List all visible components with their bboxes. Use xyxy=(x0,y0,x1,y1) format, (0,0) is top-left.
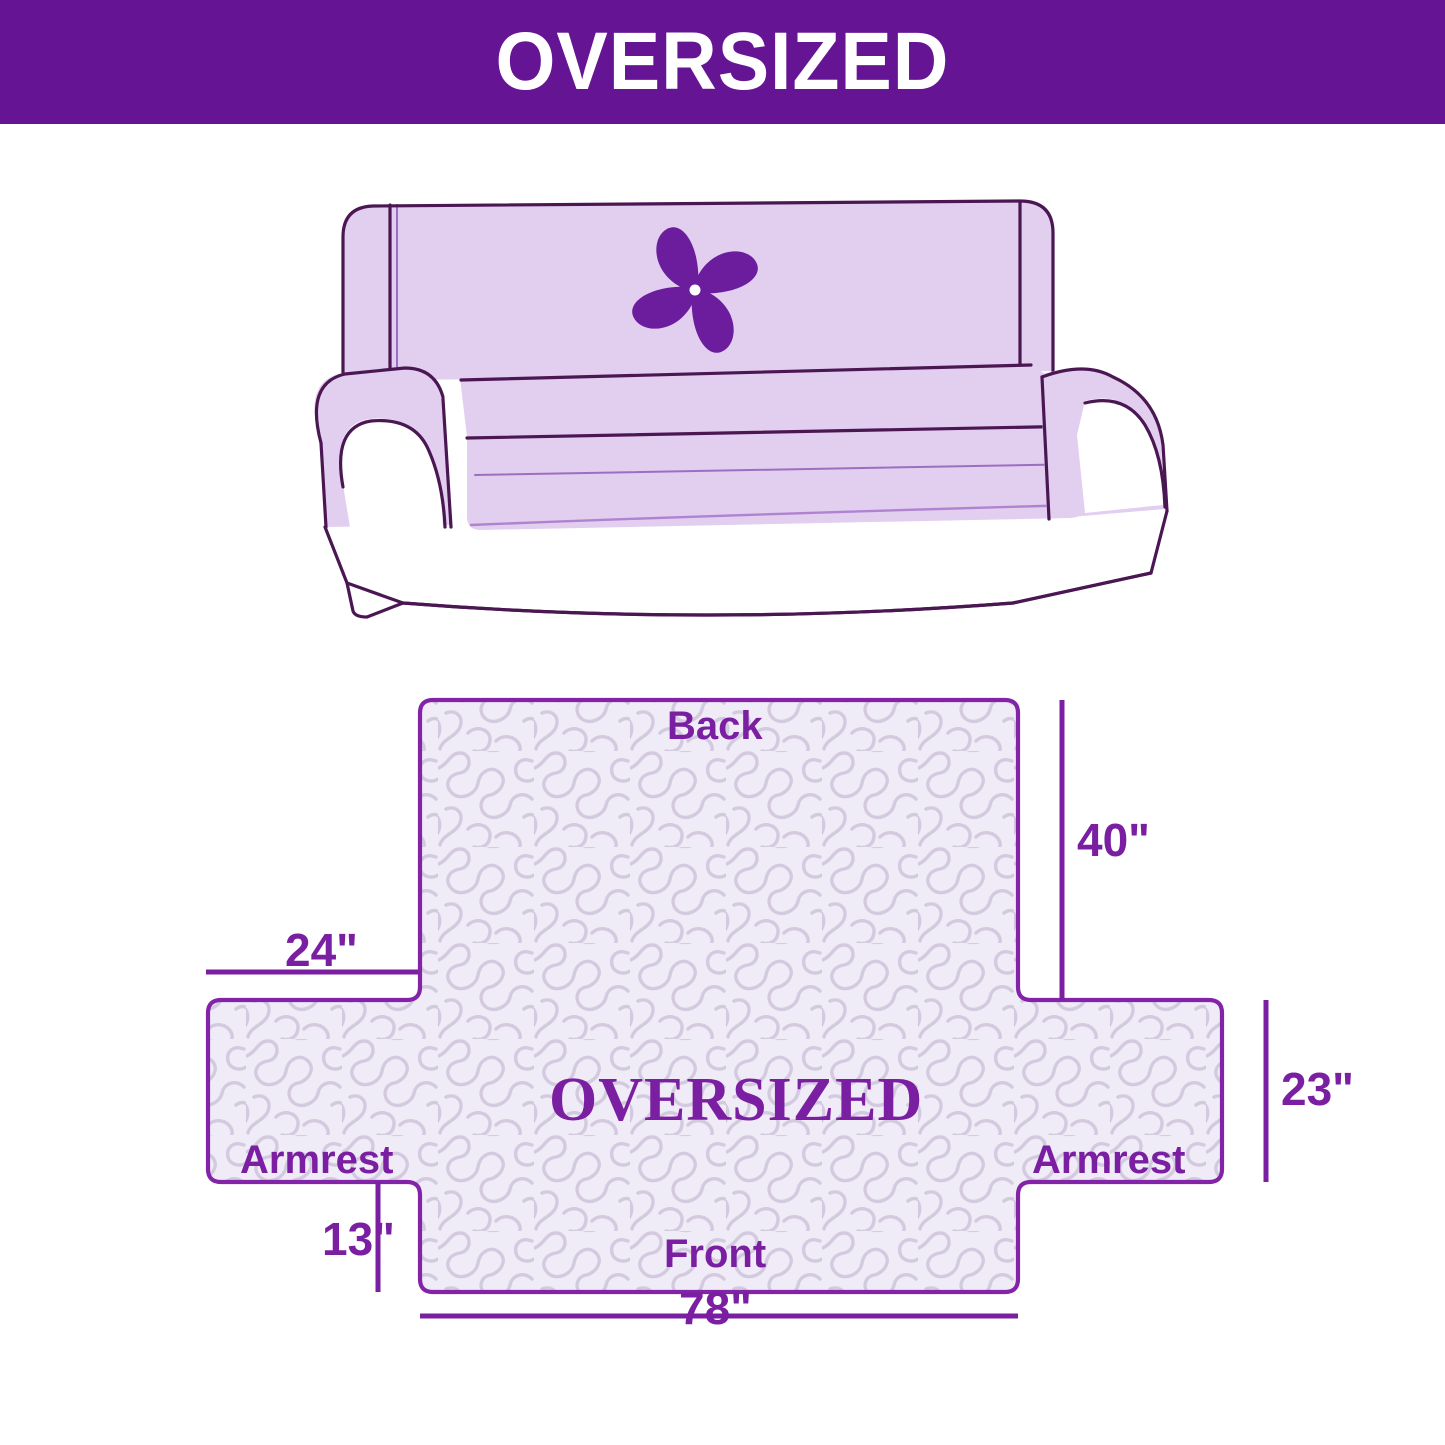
panel-label-armrest-right: Armrest xyxy=(1032,1140,1185,1180)
dimension-label-13: 13" xyxy=(322,1216,395,1262)
panel-label-back: Back xyxy=(667,706,763,746)
dimension-label-78: 78" xyxy=(679,1285,752,1331)
header-banner: OVERSIZED xyxy=(0,0,1445,124)
dimension-label-23: 23" xyxy=(1281,1066,1354,1112)
panel-label-front: Front xyxy=(664,1234,766,1274)
sofa-drawing-svg xyxy=(285,175,1190,625)
sofa-illustration xyxy=(285,175,1190,625)
dimension-label-24: 24" xyxy=(285,927,358,973)
slipcover-outline xyxy=(208,700,1222,1292)
page-title: OVERSIZED xyxy=(496,21,950,103)
dimension-label-40: 40" xyxy=(1077,817,1150,863)
diagram-center-label: OVERSIZED xyxy=(549,1069,923,1131)
product-spec-image: OVERSIZED xyxy=(0,0,1445,1445)
flat-pattern-diagram: Back Armrest Armrest Front OVERSIZED 24"… xyxy=(150,655,1330,1355)
panel-label-armrest-left: Armrest xyxy=(240,1140,393,1180)
